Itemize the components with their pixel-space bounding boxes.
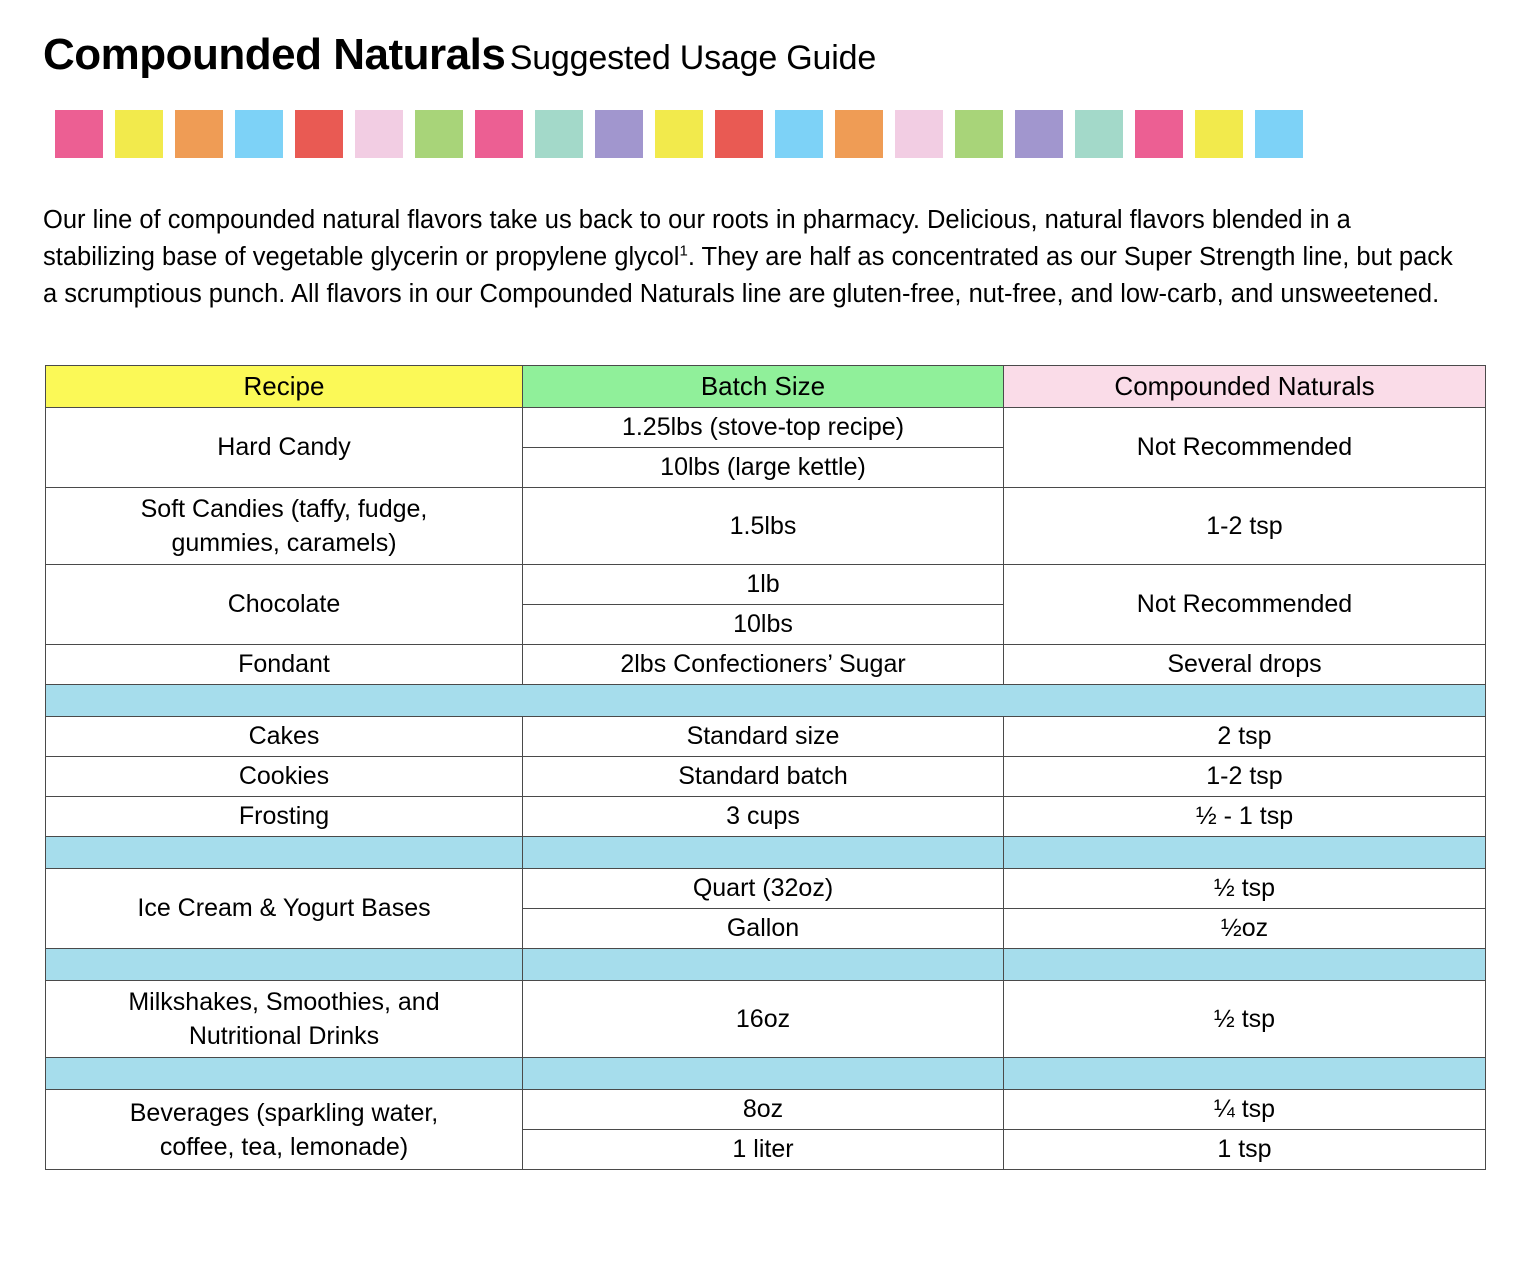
- color-swatch-14: [835, 110, 883, 158]
- cell-recipe-ice-cream: Ice Cream & Yogurt Bases: [46, 869, 523, 949]
- usage-guide-page: Compounded Naturals Suggested Usage Guid…: [0, 0, 1530, 1264]
- cell-naturals-hard-candy: Not Recommended: [1004, 408, 1486, 488]
- cell-recipe-chocolate: Chocolate: [46, 565, 523, 645]
- cell-recipe-hard-candy: Hard Candy: [46, 408, 523, 488]
- column-header-recipe: Recipe: [46, 366, 523, 408]
- cell-batch-chocolate-2: 10lbs: [523, 605, 1004, 645]
- cell-recipe-beverages-line1: Beverages (sparkling water,: [130, 1099, 438, 1127]
- cell-naturals-cookies: 1-2 tsp: [1004, 757, 1486, 797]
- spacer-cell: [523, 949, 1004, 981]
- column-header-batch-size: Batch Size: [523, 366, 1004, 408]
- cell-batch-cakes: Standard size: [523, 717, 1004, 757]
- cell-batch-frosting: 3 cups: [523, 797, 1004, 837]
- cell-naturals-soft-candies: 1-2 tsp: [1004, 488, 1486, 565]
- cell-naturals-cakes: 2 tsp: [1004, 717, 1486, 757]
- table-row: Hard Candy 1.25lbs (stove-top recipe) No…: [46, 408, 1486, 448]
- spacer-cell: [46, 949, 523, 981]
- table-row: Ice Cream & Yogurt Bases Quart (32oz) ½ …: [46, 869, 1486, 909]
- cell-recipe-cookies: Cookies: [46, 757, 523, 797]
- cell-naturals-ice-cream-2: ½oz: [1004, 909, 1486, 949]
- cell-recipe-soft-candies: Soft Candies (taffy, fudge, gummies, car…: [46, 488, 523, 565]
- color-swatch-8: [475, 110, 523, 158]
- cell-recipe-fondant: Fondant: [46, 645, 523, 685]
- color-swatch-10: [595, 110, 643, 158]
- color-swatch-17: [1015, 110, 1063, 158]
- spacer-cell: [46, 685, 1486, 717]
- color-swatch-13: [775, 110, 823, 158]
- color-swatch-9: [535, 110, 583, 158]
- table-header-row: Recipe Batch Size Compounded Naturals: [46, 366, 1486, 408]
- cell-recipe-beverages: Beverages (sparkling water, coffee, tea,…: [46, 1090, 523, 1170]
- color-swatch-1: [55, 110, 103, 158]
- cell-recipe-cakes: Cakes: [46, 717, 523, 757]
- spacer-cell: [46, 837, 523, 869]
- cell-batch-hard-candy-1: 1.25lbs (stove-top recipe): [523, 408, 1004, 448]
- spacer-cell: [1004, 949, 1486, 981]
- cell-recipe-frosting: Frosting: [46, 797, 523, 837]
- table-spacer-row: [46, 949, 1486, 981]
- color-swatch-16: [955, 110, 1003, 158]
- cell-naturals-chocolate: Not Recommended: [1004, 565, 1486, 645]
- cell-recipe-soft-candies-line1: Soft Candies (taffy, fudge,: [141, 495, 428, 523]
- cell-batch-beverages-2: 1 liter: [523, 1130, 1004, 1170]
- color-swatch-19: [1135, 110, 1183, 158]
- cell-batch-soft-candies: 1.5lbs: [523, 488, 1004, 565]
- intro-paragraph: Our line of compounded natural flavors t…: [43, 202, 1455, 313]
- table-row: Milkshakes, Smoothies, and Nutritional D…: [46, 981, 1486, 1058]
- spacer-cell: [46, 1058, 523, 1090]
- table-row: Cakes Standard size 2 tsp: [46, 717, 1486, 757]
- cell-naturals-fondant: Several drops: [1004, 645, 1486, 685]
- color-swatch-21: [1255, 110, 1303, 158]
- color-swatch-strip: [55, 110, 1475, 158]
- table-row: Beverages (sparkling water, coffee, tea,…: [46, 1090, 1486, 1130]
- column-header-compounded-naturals: Compounded Naturals: [1004, 366, 1486, 408]
- color-swatch-7: [415, 110, 463, 158]
- spacer-cell: [523, 1058, 1004, 1090]
- table-row: Frosting 3 cups ½ - 1 tsp: [46, 797, 1486, 837]
- cell-batch-hard-candy-2: 10lbs (large kettle): [523, 448, 1004, 488]
- cell-batch-ice-cream-2: Gallon: [523, 909, 1004, 949]
- cell-naturals-beverages-1: ¼ tsp: [1004, 1090, 1486, 1130]
- table-spacer-row: [46, 837, 1486, 869]
- color-swatch-15: [895, 110, 943, 158]
- table-row: Cookies Standard batch 1-2 tsp: [46, 757, 1486, 797]
- cell-recipe-milkshakes-line2: Nutritional Drinks: [189, 1022, 379, 1050]
- spacer-cell: [1004, 1058, 1486, 1090]
- spacer-cell: [523, 837, 1004, 869]
- color-swatch-6: [355, 110, 403, 158]
- cell-recipe-milkshakes: Milkshakes, Smoothies, and Nutritional D…: [46, 981, 523, 1058]
- color-swatch-11: [655, 110, 703, 158]
- page-title-subtitle: Suggested Usage Guide: [510, 39, 876, 77]
- cell-batch-beverages-1: 8oz: [523, 1090, 1004, 1130]
- spacer-cell: [1004, 837, 1486, 869]
- color-swatch-5: [295, 110, 343, 158]
- color-swatch-4: [235, 110, 283, 158]
- cell-batch-ice-cream-1: Quart (32oz): [523, 869, 1004, 909]
- cell-batch-cookies: Standard batch: [523, 757, 1004, 797]
- cell-naturals-frosting: ½ - 1 tsp: [1004, 797, 1486, 837]
- cell-batch-milkshakes: 16oz: [523, 981, 1004, 1058]
- page-title-main: Compounded Naturals: [43, 30, 505, 79]
- table-row: Chocolate 1lb Not Recommended: [46, 565, 1486, 605]
- table-row: Fondant 2lbs Confectioners’ Sugar Severa…: [46, 645, 1486, 685]
- cell-recipe-soft-candies-line2: gummies, caramels): [171, 529, 396, 557]
- cell-recipe-milkshakes-line1: Milkshakes, Smoothies, and: [128, 988, 439, 1016]
- cell-batch-fondant: 2lbs Confectioners’ Sugar: [523, 645, 1004, 685]
- cell-recipe-beverages-line2: coffee, tea, lemonade): [160, 1133, 408, 1161]
- color-swatch-12: [715, 110, 763, 158]
- table-row: Soft Candies (taffy, fudge, gummies, car…: [46, 488, 1486, 565]
- color-swatch-3: [175, 110, 223, 158]
- suggested-usage-table: Recipe Batch Size Compounded Naturals Ha…: [45, 365, 1486, 1170]
- table-spacer-row: [46, 1058, 1486, 1090]
- cell-naturals-milkshakes: ½ tsp: [1004, 981, 1486, 1058]
- cell-naturals-ice-cream-1: ½ tsp: [1004, 869, 1486, 909]
- color-swatch-18: [1075, 110, 1123, 158]
- page-title: Compounded Naturals Suggested Usage Guid…: [43, 30, 876, 80]
- color-swatch-2: [115, 110, 163, 158]
- cell-batch-chocolate-1: 1lb: [523, 565, 1004, 605]
- cell-naturals-beverages-2: 1 tsp: [1004, 1130, 1486, 1170]
- footnote-marker: 1: [679, 242, 687, 259]
- table-spacer-row: [46, 685, 1486, 717]
- color-swatch-20: [1195, 110, 1243, 158]
